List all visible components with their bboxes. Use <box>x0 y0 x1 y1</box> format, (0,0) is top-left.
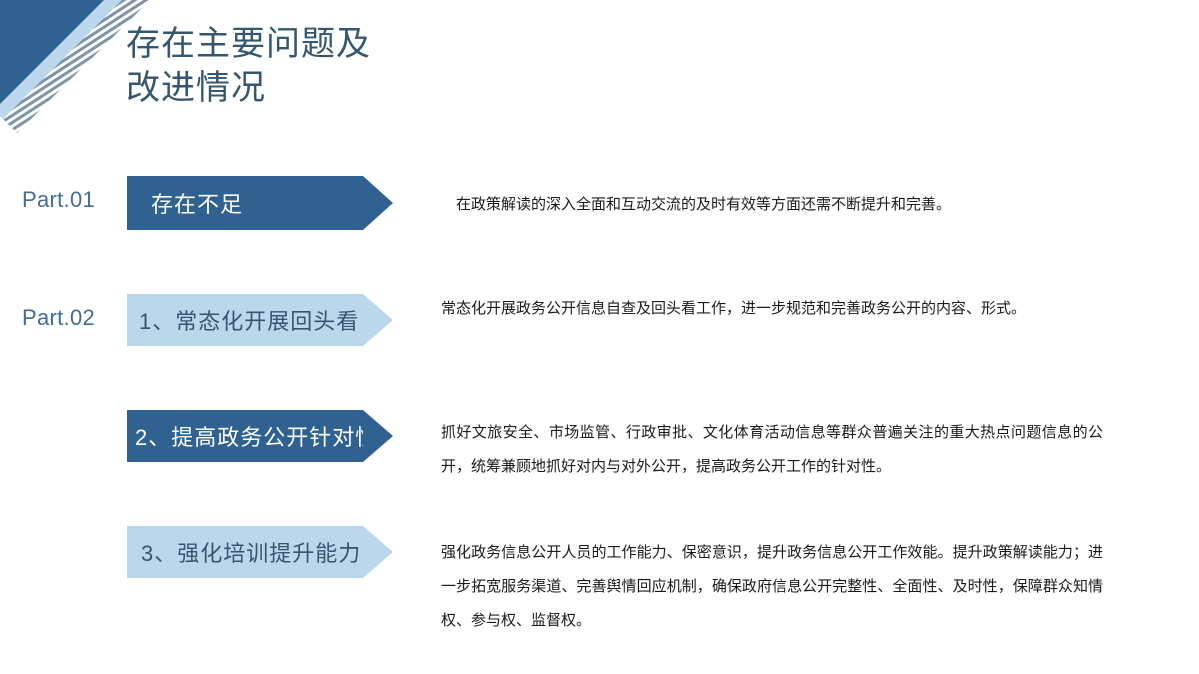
section-body-text: 强化政务信息公开人员的工作能力、保密意识，提升政务信息公开工作效能。提升政策解读… <box>441 536 1103 638</box>
section-arrow-label: 2、提高政务公开针对性 <box>127 420 378 452</box>
arrow-head-icon <box>363 410 393 462</box>
content-row: 3、强化培训提升能力 强化政务信息公开人员的工作能力、保密意识，提升政务信息公开… <box>0 524 1199 634</box>
content-row: Part.02 1、常态化开展回头看 常态化开展政务公开信息自查及回头看工作，进… <box>0 292 1199 370</box>
section-arrow-label: 3、强化培训提升能力 <box>127 536 361 568</box>
section-arrow-banner[interactable]: 1、常态化开展回头看 <box>127 294 363 346</box>
section-arrow-label: 1、常态化开展回头看 <box>127 304 359 336</box>
arrow-head-icon <box>363 294 393 346</box>
section-arrow-banner[interactable]: 3、强化培训提升能力 <box>127 526 363 578</box>
section-arrow-banner[interactable]: 2、提高政务公开针对性 <box>127 410 363 462</box>
section-body-text: 抓好文旅安全、市场监管、行政审批、文化体育活动信息等群众普遍关注的重大热点问题信… <box>441 416 1103 484</box>
section-body-text: 常态化开展政务公开信息自查及回头看工作，进一步规范和完善政务公开的内容、形式。 <box>441 292 1103 326</box>
section-arrow-label: 存在不足 <box>127 187 243 219</box>
section-body-text: 在政策解读的深入全面和互动交流的及时有效等方面还需不断提升和完善。 <box>456 188 1116 222</box>
content-row: Part.01 存在不足 在政策解读的深入全面和互动交流的及时有效等方面还需不断… <box>0 170 1199 234</box>
part-label: Part.01 <box>22 186 122 214</box>
section-arrow-banner[interactable]: 存在不足 <box>127 176 363 230</box>
slide-canvas: 存在主要问题及 改进情况 Part.01 存在不足 在政策解读的深入全面和互动交… <box>0 0 1199 674</box>
part-label: Part.02 <box>22 304 122 332</box>
content-row: 2、提高政务公开针对性 抓好文旅安全、市场监管、行政审批、文化体育活动信息等群众… <box>0 408 1199 486</box>
page-title: 存在主要问题及 改进情况 <box>126 22 546 110</box>
arrow-head-icon <box>363 526 393 578</box>
arrow-head-icon <box>363 176 393 230</box>
